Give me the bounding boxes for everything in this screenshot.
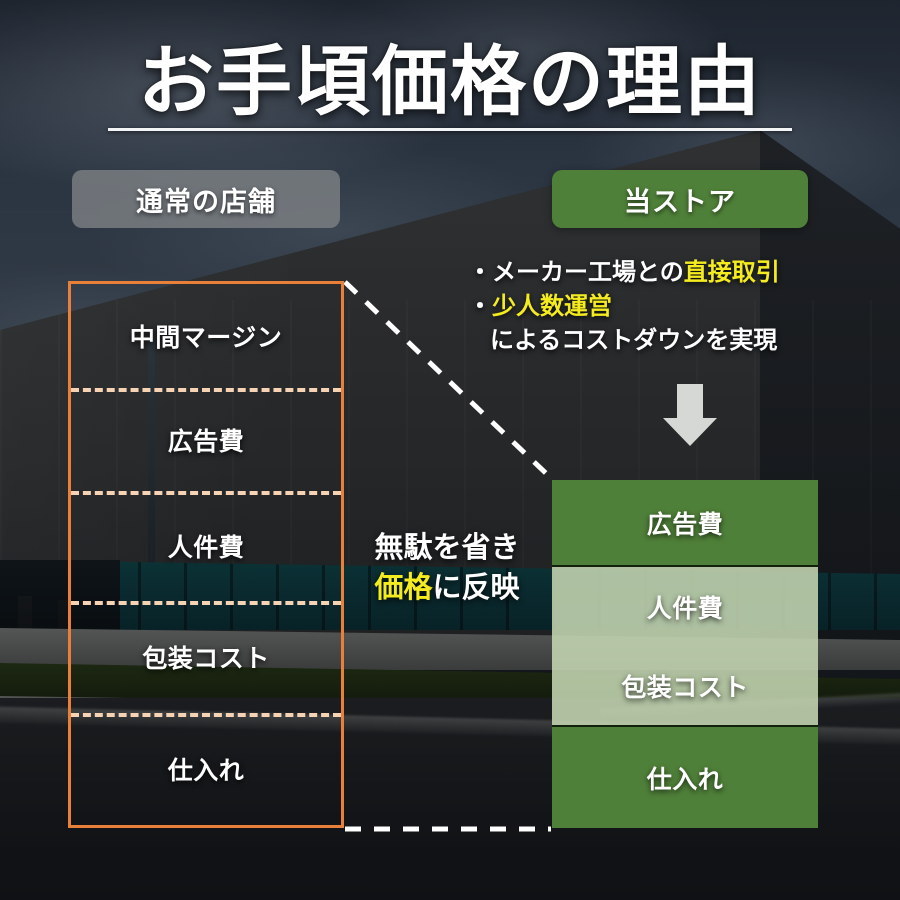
bullet-2-highlight: 少人数運営 [492, 293, 612, 320]
middle-caption: 無駄を省き 価格に反映 [352, 528, 542, 608]
header-normal-store-label: 通常の店舗 [136, 180, 276, 219]
cost-row-2: 広告費 [71, 388, 341, 491]
our-store-cost-stack: 広告費 人件費 包装コスト 仕入れ [552, 480, 818, 828]
title-underline [108, 128, 792, 131]
header-our-store: 当ストア [552, 170, 808, 228]
bullet-1-prefix: ・メーカー工場との [468, 259, 684, 286]
our-store-bullets: ・メーカー工場との直接取引 ・少人数運営 によるコストダウンを実現 [468, 256, 888, 358]
page-title: お手頃価格の理由 [0, 20, 900, 130]
bullet-2-marker: ・ [468, 293, 492, 320]
cost-row-2-label: 広告費 [168, 422, 245, 458]
down-arrow-icon [657, 382, 723, 448]
green-row-4-label: 仕入れ [647, 760, 724, 796]
cost-row-5: 仕入れ [71, 713, 341, 825]
header-our-store-label: 当ストア [624, 180, 736, 219]
cost-row-4-label: 包装コスト [142, 639, 270, 675]
bullet-line-2: ・少人数運営 [468, 290, 888, 324]
bullet-line-3: によるコストダウンを実現 [468, 324, 888, 358]
cost-row-1: 中間マージン [71, 284, 341, 388]
middle-caption-line1: 無駄を省き [352, 528, 542, 568]
header-normal-store: 通常の店舗 [72, 170, 340, 228]
foreground-content: お手頃価格の理由 通常の店舗 当ストア 中間マージン 広告費 人件費 [0, 0, 900, 900]
cost-row-1-label: 中間マージン [130, 318, 283, 354]
middle-caption-highlight: 価格 [374, 572, 432, 604]
cost-row-3-label: 人件費 [168, 528, 245, 564]
green-row-3: 包装コスト [552, 646, 818, 725]
infographic-canvas: お手頃価格の理由 通常の店舗 当ストア 中間マージン 広告費 人件費 [0, 0, 900, 900]
green-row-3-label: 包装コスト [621, 668, 749, 704]
bullet-1-highlight: 直接取引 [684, 259, 780, 286]
bullet-line-1: ・メーカー工場との直接取引 [468, 256, 888, 290]
normal-store-cost-stack: 中間マージン 広告費 人件費 包装コスト 仕入れ [68, 281, 344, 828]
cost-row-4: 包装コスト [71, 601, 341, 713]
green-row-1: 広告費 [552, 480, 818, 565]
green-row-2: 人件費 [552, 567, 818, 646]
middle-caption-line2: 価格に反映 [352, 568, 542, 608]
green-row-2-label: 人件費 [647, 589, 724, 625]
cost-row-5-label: 仕入れ [168, 751, 245, 787]
green-row-4: 仕入れ [552, 727, 818, 828]
green-row-1-label: 広告費 [647, 505, 724, 541]
middle-caption-rest: に反映 [433, 572, 520, 604]
cost-row-3: 人件費 [71, 491, 341, 601]
